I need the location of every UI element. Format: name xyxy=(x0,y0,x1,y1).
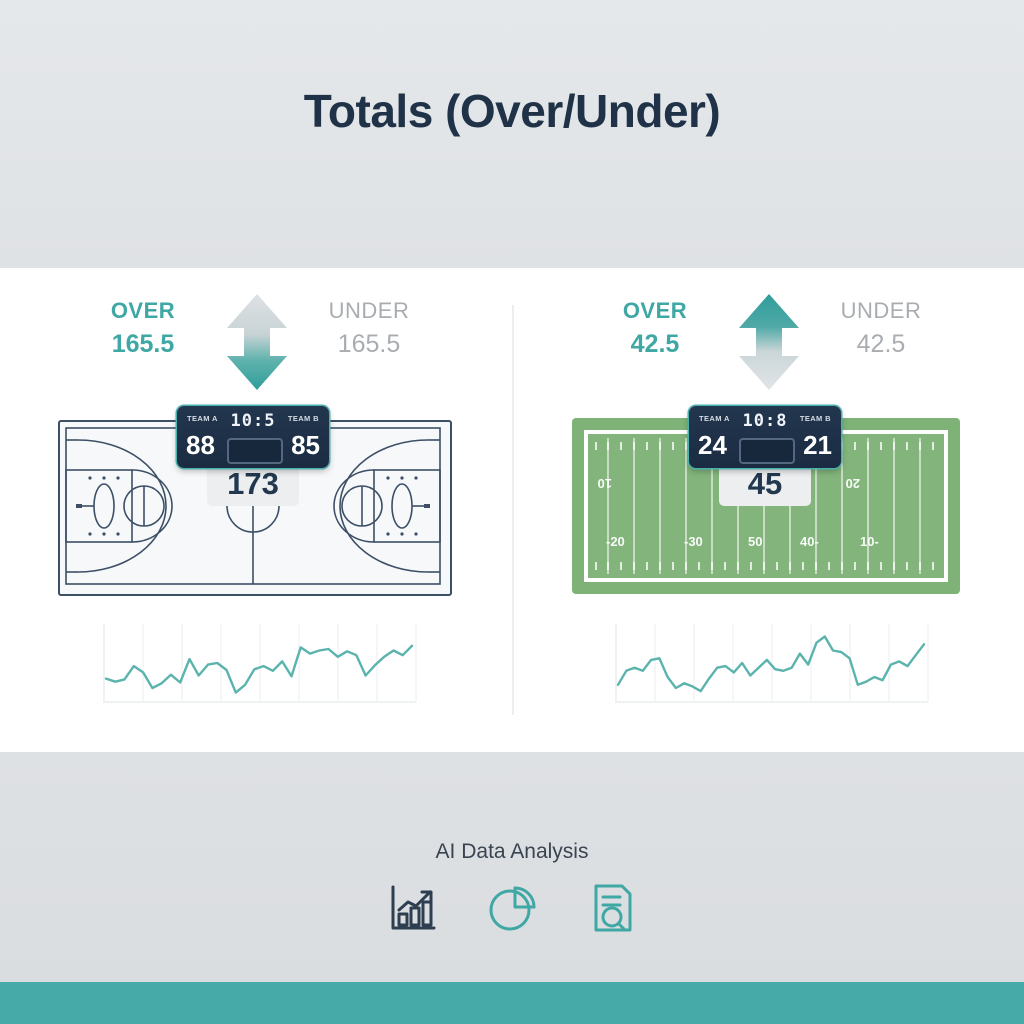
page-title: Totals (Over/Under) xyxy=(0,84,1024,138)
over-under-row-football: OVER 42.5 UNDER 42.5 xyxy=(512,298,1024,398)
up-arrow-highlighted-icon xyxy=(736,292,802,392)
under-label: UNDER xyxy=(284,298,454,324)
team-a-label: TEAM A xyxy=(187,414,218,423)
scoreboard-period-box xyxy=(227,438,283,464)
yard-number-50: 50 xyxy=(748,534,762,549)
trend-chart-football xyxy=(612,618,932,718)
scoreboard-basketball: 10:5 TEAM A TEAM B 88 85 xyxy=(177,406,329,468)
yard-number-10: 10- xyxy=(860,534,879,549)
over-label: OVER xyxy=(58,298,228,324)
pie-chart-icon[interactable] xyxy=(486,882,538,939)
under-value: 165.5 xyxy=(284,330,454,359)
scoreboard-football: 10:8 TEAM A TEAM B 24 21 xyxy=(689,406,841,468)
header-band: Totals (Over/Under) xyxy=(0,0,1024,268)
over-value: 42.5 xyxy=(570,330,740,359)
over-label: OVER xyxy=(570,298,740,324)
under-block-basketball[interactable]: UNDER 165.5 xyxy=(284,298,454,359)
footer-accent-bar xyxy=(0,982,1024,1024)
panel-basketball: OVER 165.5 UNDER 165.5 xyxy=(0,268,512,752)
ai-analysis-title: AI Data Analysis xyxy=(0,840,1024,864)
total-badge-basketball: 173 xyxy=(207,462,299,506)
over-block-basketball[interactable]: OVER 165.5 xyxy=(58,298,228,359)
team-b-score: 85 xyxy=(291,430,320,461)
yard-number-20: -20 xyxy=(606,534,625,549)
document-search-icon[interactable] xyxy=(586,882,638,939)
scoreboard-period-box xyxy=(739,438,795,464)
team-a-label: TEAM A xyxy=(699,414,730,423)
basketball-court-graphic: 173 10:5 TEAM A TEAM B 88 85 xyxy=(0,406,512,606)
team-b-score: 21 xyxy=(803,430,832,461)
football-field-graphic: 10 20 -20 -30 50 40- 10- 45 xyxy=(512,406,1024,606)
trend-chart-basketball xyxy=(100,618,420,718)
team-a-score: 88 xyxy=(186,430,215,461)
over-under-row-basketball: OVER 165.5 UNDER 165.5 xyxy=(0,298,512,398)
yard-number-10-top: 10 xyxy=(598,476,612,491)
over-block-football[interactable]: OVER 42.5 xyxy=(570,298,740,359)
team-b-label: TEAM B xyxy=(800,414,831,423)
down-arrow-highlighted-icon xyxy=(224,292,290,392)
total-badge-football: 45 xyxy=(719,462,811,506)
team-b-label: TEAM B xyxy=(288,414,319,423)
yard-number-40: 40- xyxy=(800,534,819,549)
under-value: 42.5 xyxy=(796,330,966,359)
ai-icon-row xyxy=(0,882,1024,939)
yard-number-20-top: 20 xyxy=(846,476,860,491)
under-block-football[interactable]: UNDER 42.5 xyxy=(796,298,966,359)
yard-number-30: -30 xyxy=(684,534,703,549)
over-value: 165.5 xyxy=(58,330,228,359)
panel-football: OVER 42.5 UNDER 42.5 xyxy=(512,268,1024,752)
bar-chart-trend-icon[interactable] xyxy=(386,882,438,939)
team-a-score: 24 xyxy=(698,430,727,461)
footer-band: AI Data Analysis xyxy=(0,752,1024,982)
infographic-canvas: Totals (Over/Under) OVER 165.5 UNDER 165… xyxy=(0,0,1024,1024)
under-label: UNDER xyxy=(796,298,966,324)
